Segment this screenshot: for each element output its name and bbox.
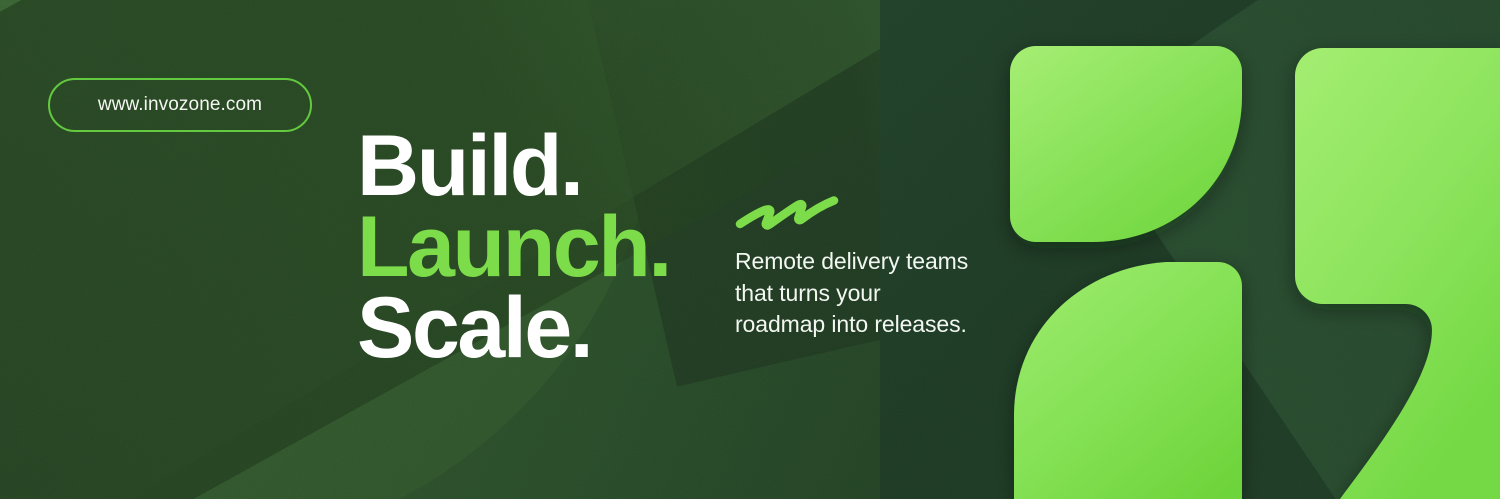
blade-right-shape (1295, 48, 1500, 499)
website-url-label: www.invozone.com (98, 94, 262, 116)
copy-block: Remote delivery teams that turns your ro… (735, 196, 975, 341)
website-url-pill[interactable]: www.invozone.com (48, 78, 312, 132)
body-copy: Remote delivery teams that turns your ro… (735, 246, 975, 341)
leaf-top-left-shape (1010, 46, 1242, 242)
zigzag-squiggle-icon (735, 196, 839, 232)
headline-line-scale: Scale. (357, 288, 670, 369)
headline-line-launch: Launch. (357, 207, 670, 288)
leaf-bottom-left-shape (1014, 262, 1242, 499)
invozone-banner: www.invozone.com Build. Launch. Scale. R… (0, 0, 1500, 499)
invozone-logo-artwork (980, 0, 1500, 499)
headline-line-build: Build. (357, 126, 670, 207)
headline: Build. Launch. Scale. (357, 126, 670, 368)
